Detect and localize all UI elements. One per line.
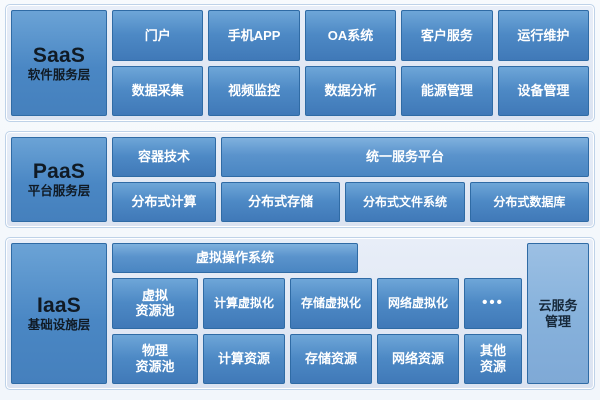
saas-row-2: 数据采集 视频监控 数据分析 能源管理 设备管理 [112,66,589,117]
iaas-row-2: 虚拟 资源池 计算虚拟化 存储虚拟化 网络虚拟化 ••• [112,278,522,329]
cell-iaas-more-ellipsis[interactable]: ••• [464,278,522,329]
cell-iaas-virtual-resource-pool[interactable]: 虚拟 资源池 [112,278,198,329]
cell-iaas-cloud-service-management-line1: 云服务 [538,298,577,313]
cell-iaas-network-virtualization[interactable]: 网络虚拟化 [377,278,459,329]
cell-saas-data-collection[interactable]: 数据采集 [112,66,203,117]
layer-label-saas: SaaS 软件服务层 [11,10,107,116]
layer-cn-iaas: 基础设施层 [28,319,91,332]
cell-iaas-storage-virtualization[interactable]: 存储虚拟化 [290,278,372,329]
iaas-row-3: 物理 资源池 计算资源 存储资源 网络资源 其他 资源 [112,334,522,385]
layer-abbr-paas: PaaS [33,161,85,182]
cell-paas-distributed-storage[interactable]: 分布式存储 [221,182,340,222]
cell-paas-container-tech[interactable]: 容器技术 [112,137,216,177]
cell-iaas-storage-resource[interactable]: 存储资源 [290,334,372,385]
cell-iaas-virtual-os[interactable]: 虚拟操作系统 [112,243,358,273]
paas-row-1: 容器技术 统一服务平台 [112,137,589,177]
cell-iaas-physical-resource-pool-line1: 物理 [142,343,168,358]
layer-iaas: IaaS 基础设施层 虚拟操作系统 虚拟 资源池 计算虚拟化 存储虚拟化 网络虚… [5,237,595,390]
cell-iaas-compute-virtualization[interactable]: 计算虚拟化 [203,278,285,329]
layer-cn-saas: 软件服务层 [28,69,91,82]
layer-paas: PaaS 平台服务层 容器技术 统一服务平台 分布式计算 分布式存储 分布式文件… [5,131,595,228]
iaas-row-1-filler [363,243,522,273]
cell-saas-energy-management[interactable]: 能源管理 [401,66,492,117]
layer-cn-paas: 平台服务层 [28,185,91,198]
cell-iaas-other-resource-line1: 其他 [480,343,506,358]
cell-saas-oa-system[interactable]: OA系统 [305,10,396,61]
cell-iaas-other-resource[interactable]: 其他 资源 [464,334,522,385]
cell-iaas-compute-resource[interactable]: 计算资源 [203,334,285,385]
layer-saas: SaaS 软件服务层 门户 手机APP OA系统 客户服务 运行维护 数据采集 … [5,4,595,122]
cell-iaas-physical-resource-pool-line2: 资源池 [135,359,174,374]
cell-saas-device-management[interactable]: 设备管理 [498,66,589,117]
cell-paas-unified-service-platform[interactable]: 统一服务平台 [221,137,589,177]
cell-paas-distributed-file-system[interactable]: 分布式文件系统 [345,182,464,222]
layer-abbr-saas: SaaS [33,45,85,66]
iaas-side-column: 云服务 管理 [527,243,589,384]
cell-iaas-network-resource[interactable]: 网络资源 [377,334,459,385]
layer-label-paas: PaaS 平台服务层 [11,137,107,222]
cell-saas-portal[interactable]: 门户 [112,10,203,61]
cell-saas-data-analysis[interactable]: 数据分析 [305,66,396,117]
cell-iaas-virtual-resource-pool-line2: 资源池 [135,303,174,318]
cell-paas-distributed-database[interactable]: 分布式数据库 [470,182,589,222]
iaas-row-1: 虚拟操作系统 [112,243,522,273]
cell-saas-operation-maintenance[interactable]: 运行维护 [498,10,589,61]
cell-iaas-virtual-resource-pool-line1: 虚拟 [142,288,168,303]
saas-row-1: 门户 手机APP OA系统 客户服务 运行维护 [112,10,589,61]
layer-abbr-iaas: IaaS [37,295,81,316]
layer-label-iaas: IaaS 基础设施层 [11,243,107,384]
layer-body-saas: 门户 手机APP OA系统 客户服务 运行维护 数据采集 视频监控 数据分析 能… [112,10,589,116]
cell-iaas-cloud-service-management[interactable]: 云服务 管理 [527,243,589,384]
cell-paas-distributed-computing[interactable]: 分布式计算 [112,182,216,222]
cell-saas-customer-service[interactable]: 客户服务 [401,10,492,61]
layer-body-paas: 容器技术 统一服务平台 分布式计算 分布式存储 分布式文件系统 分布式数据库 [112,137,589,222]
architecture-diagram: SaaS 软件服务层 门户 手机APP OA系统 客户服务 运行维护 数据采集 … [0,0,600,400]
paas-row-2: 分布式计算 分布式存储 分布式文件系统 分布式数据库 [112,182,589,222]
cell-saas-mobile-app[interactable]: 手机APP [208,10,299,61]
cell-iaas-cloud-service-management-line2: 管理 [545,314,571,329]
cell-saas-video-monitoring[interactable]: 视频监控 [208,66,299,117]
cell-iaas-other-resource-line2: 资源 [480,359,506,374]
cell-iaas-physical-resource-pool[interactable]: 物理 资源池 [112,334,198,385]
layer-body-iaas: 虚拟操作系统 虚拟 资源池 计算虚拟化 存储虚拟化 网络虚拟化 ••• 物理 资… [112,243,522,384]
